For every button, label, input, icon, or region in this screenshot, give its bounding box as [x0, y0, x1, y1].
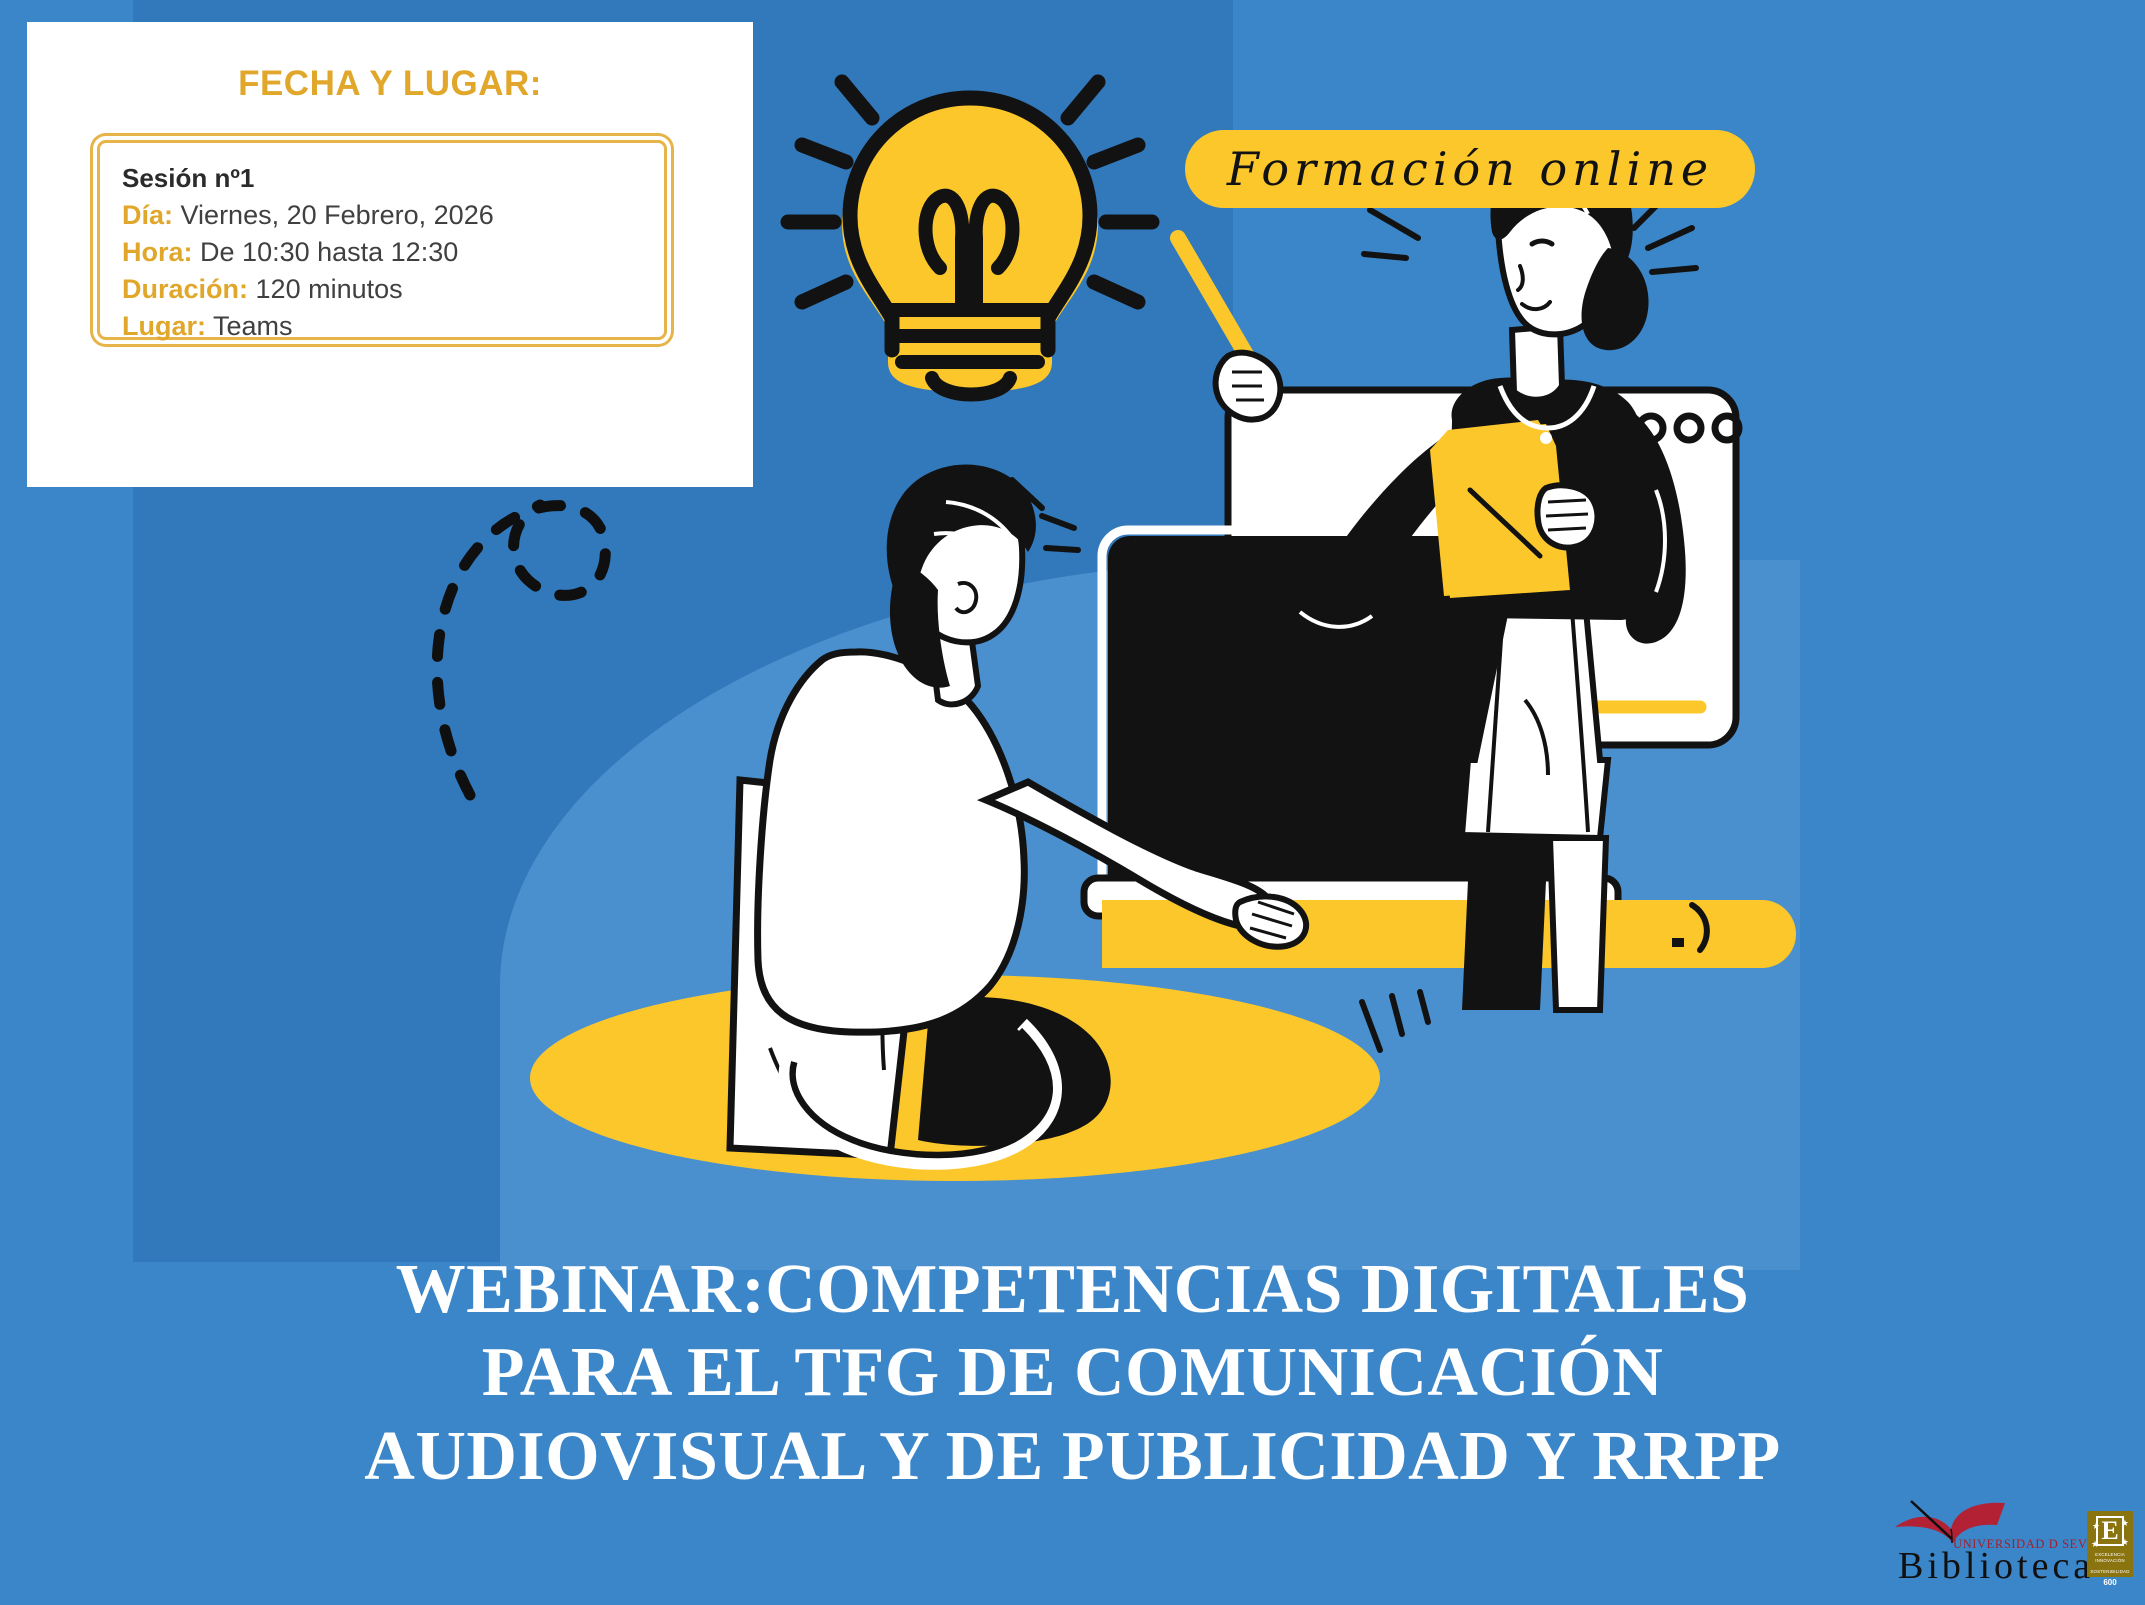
value-lugar: Teams [213, 311, 293, 341]
title-line-3: AUDIOVISUAL Y DE PUBLICIDAD Y RRPP [0, 1415, 2145, 1498]
badge-label: Formación online [1227, 142, 1713, 196]
detail-row-hora: Hora: De 10:30 hasta 12:30 [122, 234, 642, 271]
star-icon-1: ★ [2092, 1521, 2100, 1532]
detail-row-lugar: Lugar: Teams [122, 308, 642, 345]
detail-row-dia: Día: Viernes, 20 Febrero, 2026 [122, 197, 642, 234]
value-duracion: 120 minutos [256, 274, 403, 304]
logo-wordmark: UNIVERSIDAD D SEVILLA Biblioteca [1893, 1497, 2079, 1589]
label-duracion: Duración: [122, 274, 248, 304]
poster-title: WEBINAR:COMPETENCIAS DIGITALES PARA EL T… [0, 1248, 2145, 1498]
label-dia: Día: [122, 200, 173, 230]
label-hora: Hora: [122, 237, 193, 267]
value-hora: De 10:30 hasta 12:30 [200, 237, 458, 267]
info-card-title: FECHA Y LUGAR: [27, 64, 753, 104]
title-line-1: WEBINAR:COMPETENCIAS DIGITALES [0, 1248, 2145, 1331]
poster-canvas: FECHA Y LUGAR: Sesión nº1 Día: Viernes, … [0, 0, 2145, 1605]
seal-number: 600 [2103, 1578, 2116, 1587]
detail-row-duracion: Duración: 120 minutos [122, 271, 642, 308]
title-line-2: PARA EL TFG DE COMUNICACIÓN [0, 1331, 2145, 1414]
lightbulb-icon [780, 10, 1160, 430]
formacion-online-badge: Formación online [1185, 130, 1755, 208]
seal-caption: EXCELENCIA INNOVACIÓN [2087, 1552, 2133, 1563]
value-dia: Viernes, 20 Febrero, 2026 [181, 200, 494, 230]
star-icon-3: ★ [2091, 1539, 2099, 1550]
star-icon-4: ★ [2121, 1537, 2129, 1548]
session-details-box: Sesión nº1 Día: Viernes, 20 Febrero, 202… [97, 140, 667, 340]
info-card: FECHA Y LUGAR: Sesión nº1 Día: Viernes, … [27, 22, 753, 487]
session-label: Sesión nº1 [122, 161, 642, 197]
star-icon-2: ★ [2121, 1518, 2129, 1529]
logo-biblioteca-text: Biblioteca [1898, 1547, 2094, 1585]
label-lugar: Lugar: [122, 311, 206, 341]
seal-letter: E [2096, 1516, 2123, 1546]
excellence-seal: ★ ★ ★ ★ E EXCELENCIA INNOVACIÓN SOSTENIB… [2087, 1511, 2133, 1577]
biblioteca-logo: UNIVERSIDAD D SEVILLA Biblioteca ★ ★ ★ ★… [1893, 1497, 2133, 1589]
seal-subcaption: SOSTENIBILIDAD [2090, 1569, 2129, 1575]
